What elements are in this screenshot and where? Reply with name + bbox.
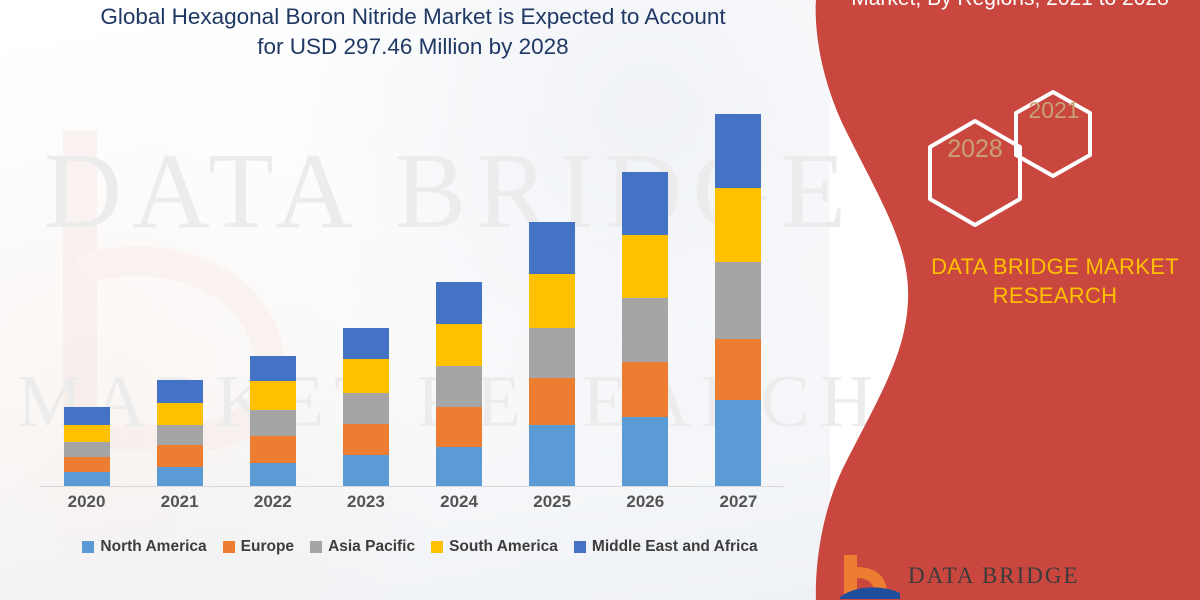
- bar-segment: [715, 114, 761, 188]
- legend-item[interactable]: Asia Pacific: [310, 538, 415, 556]
- bar-segment: [715, 400, 761, 486]
- bar-segment: [436, 447, 482, 486]
- brand-name: DATA BRIDGE MARKET RESEARCH: [890, 252, 1200, 310]
- x-tick-label: 2025: [512, 492, 592, 512]
- brand-line-1: DATA BRIDGE MARKET: [890, 252, 1200, 281]
- bar-segment: [64, 472, 110, 486]
- footer-logo: DATA BRIDGE: [840, 552, 1170, 600]
- legend-swatch-icon: [223, 541, 235, 553]
- bar-segment: [157, 403, 203, 425]
- bar-segment: [715, 188, 761, 262]
- bar-2024: [436, 282, 482, 486]
- bar-segment: [64, 407, 110, 425]
- hexagon-logo-group: 2028 2021: [920, 88, 1120, 228]
- bar-segment: [622, 417, 668, 486]
- bar-segment: [436, 366, 482, 407]
- bar-segment: [529, 425, 575, 486]
- bar-2027: [715, 114, 761, 486]
- bar-segment: [157, 445, 203, 467]
- footer-logo-text: DATA BRIDGE: [908, 563, 1080, 589]
- legend-swatch-icon: [574, 541, 586, 553]
- bar-segment: [436, 407, 482, 447]
- x-tick-label: 2021: [140, 492, 220, 512]
- x-tick-label: 2027: [698, 492, 778, 512]
- x-axis-line: [40, 486, 785, 487]
- legend-label: Europe: [241, 538, 294, 556]
- legend-swatch-icon: [310, 541, 322, 553]
- bar-2026: [622, 172, 668, 486]
- legend-label: North America: [100, 538, 206, 556]
- bar-segment: [250, 410, 296, 436]
- bar-2023: [343, 328, 389, 486]
- bar-segment: [436, 324, 482, 365]
- chart-title-line-1: Global Hexagonal Boron Nitride Market is…: [48, 2, 778, 32]
- bar-segment: [250, 381, 296, 410]
- hexagon-label-2021: 2021: [1006, 97, 1102, 124]
- infographic-canvas: DATA BRIDGE MARKET RESEARCH Global Hexag…: [0, 0, 1200, 600]
- bar-segment: [250, 356, 296, 381]
- bar-segment: [64, 425, 110, 442]
- bar-segment: [343, 359, 389, 393]
- bar-segment: [715, 262, 761, 339]
- legend-item[interactable]: Europe: [223, 538, 294, 556]
- bar-segment: [529, 274, 575, 328]
- legend-label: Middle East and Africa: [592, 538, 758, 556]
- x-tick-label: 2022: [233, 492, 313, 512]
- bar-segment: [343, 328, 389, 360]
- x-tick-label: 2020: [47, 492, 127, 512]
- bar-2022: [250, 356, 296, 486]
- x-tick-label: 2024: [419, 492, 499, 512]
- bar-segment: [622, 235, 668, 298]
- bar-segment: [64, 457, 110, 472]
- bar-segment: [622, 362, 668, 417]
- legend-swatch-icon: [82, 541, 94, 553]
- bar-segment: [529, 378, 575, 424]
- bar-2021: [157, 380, 203, 486]
- legend-item[interactable]: North America: [82, 538, 206, 556]
- bar-segment: [343, 393, 389, 424]
- chart-legend: North AmericaEuropeAsia PacificSouth Ame…: [40, 538, 800, 556]
- bar-segment: [157, 467, 203, 486]
- bar-segment: [715, 339, 761, 400]
- legend-label: South America: [449, 538, 558, 556]
- legend-item[interactable]: South America: [431, 538, 558, 556]
- side-panel-title-line: Market, By Regions, 2021 to 2028: [830, 0, 1190, 14]
- bar-2025: [529, 222, 575, 486]
- legend-item[interactable]: Middle East and Africa: [574, 538, 758, 556]
- hexagon-label-2028: 2028: [920, 135, 1030, 164]
- legend-swatch-icon: [431, 541, 443, 553]
- chart-title: Global Hexagonal Boron Nitride Market is…: [48, 2, 778, 62]
- bridge-b-icon: [840, 553, 900, 599]
- bar-2020: [64, 407, 110, 486]
- stacked-bar-plot: [40, 95, 785, 487]
- bar-segment: [250, 436, 296, 462]
- x-tick-label: 2023: [326, 492, 406, 512]
- bar-segment: [529, 328, 575, 379]
- brand-line-2: RESEARCH: [890, 281, 1200, 310]
- bar-segment: [343, 455, 389, 486]
- chart-title-line-2: for USD 297.46 Million by 2028: [48, 32, 778, 62]
- bar-segment: [436, 282, 482, 324]
- bar-segment: [157, 380, 203, 402]
- bar-segment: [529, 222, 575, 274]
- x-tick-label: 2026: [605, 492, 685, 512]
- bar-segment: [622, 298, 668, 362]
- side-panel-title: Market, By Regions, 2021 to 2028: [830, 0, 1190, 14]
- bar-segment: [250, 463, 296, 486]
- bar-segment: [343, 424, 389, 456]
- bar-segment: [157, 425, 203, 445]
- bar-segment: [64, 442, 110, 458]
- bar-segment: [622, 172, 668, 234]
- legend-label: Asia Pacific: [328, 538, 415, 556]
- x-axis-tick-labels: 20202021202220232024202520262027: [40, 492, 785, 522]
